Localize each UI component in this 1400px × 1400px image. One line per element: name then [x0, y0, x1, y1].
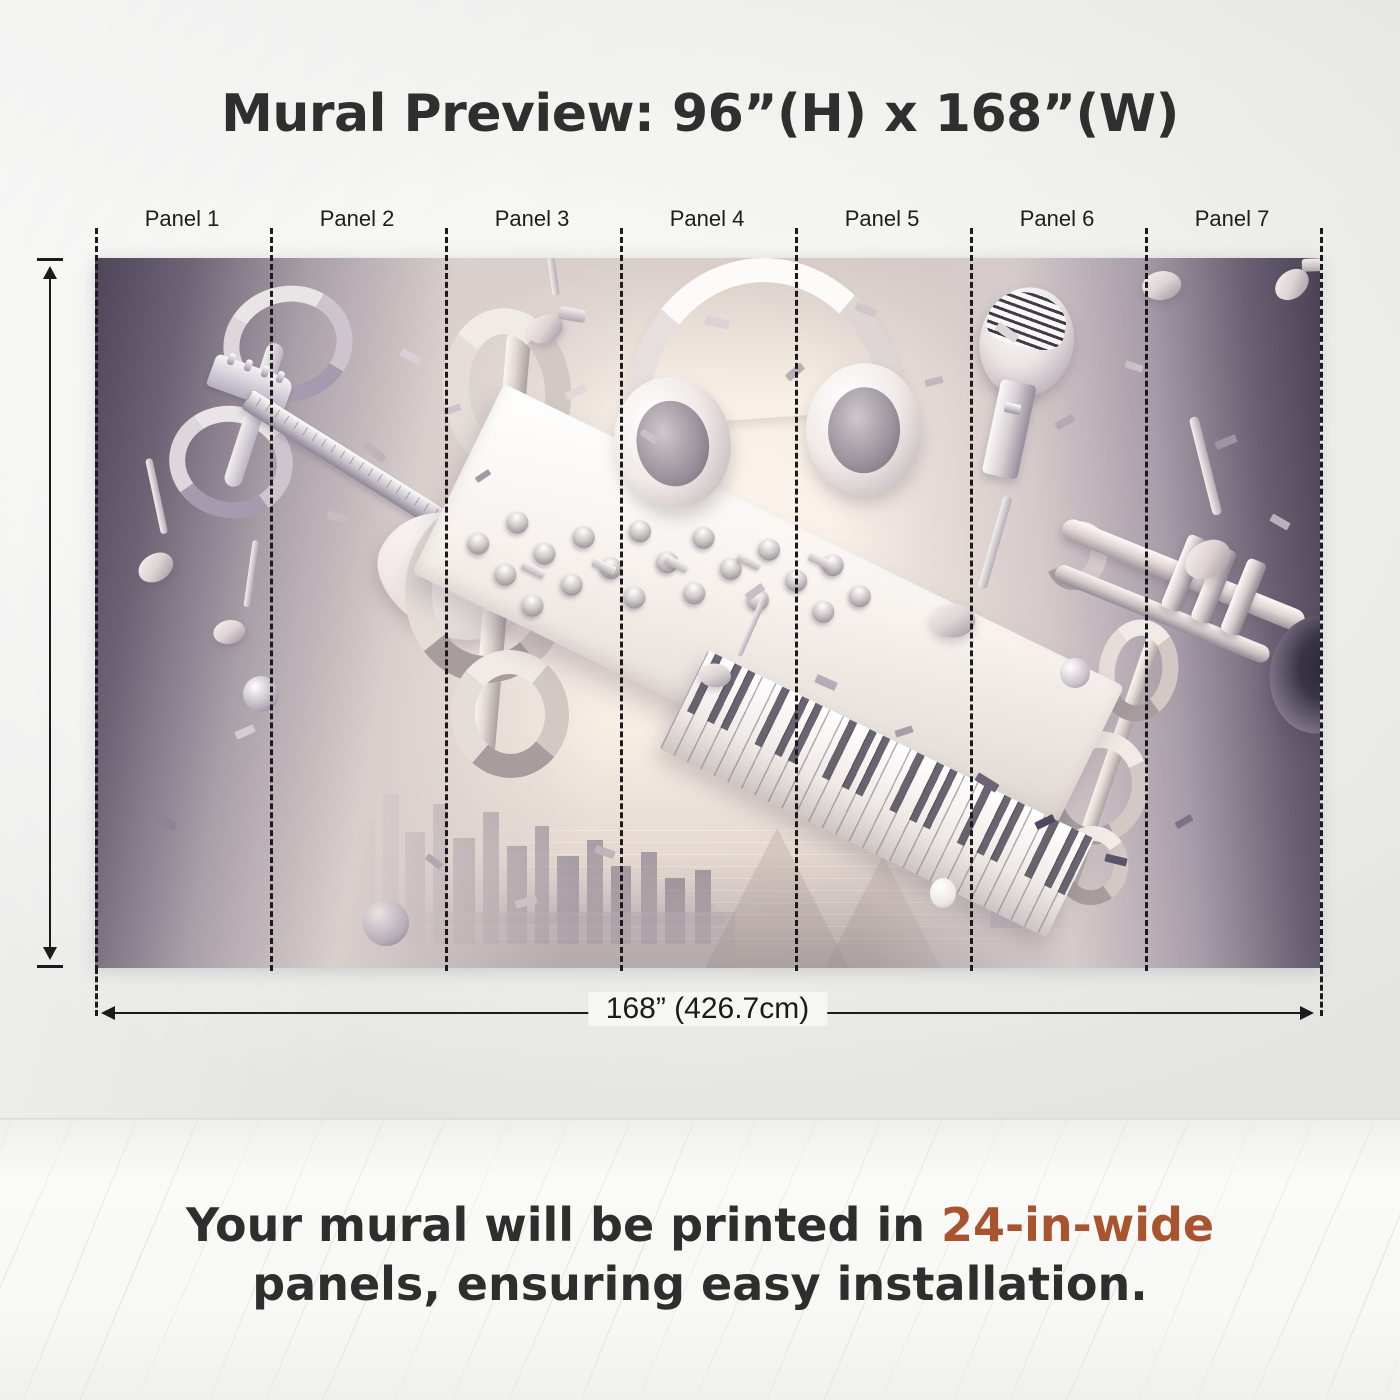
sphere-accent-2: [1060, 658, 1090, 688]
headphones-sculpture: [596, 258, 933, 529]
width-dimension-arrow: 168” (426.7cm): [95, 1011, 1320, 1015]
sphere-accent-4: [363, 900, 409, 946]
mural-preview-area: Panel 1 Panel 2 Panel 3 Panel 4 Panel 5 …: [95, 258, 1320, 968]
width-dimension-label: 168” (426.7cm): [588, 992, 827, 1026]
caption-accent-text: 24-in-wide: [941, 1198, 1214, 1252]
caption-line-2: panels, ensuring easy installation.: [0, 1255, 1400, 1314]
mural-artwork: [95, 258, 1320, 968]
dimension-guide-left: [95, 968, 98, 1016]
sphere-accent-3: [930, 878, 956, 908]
caption-line-1: Your mural will be printed in 24-in-wide: [0, 1196, 1400, 1255]
height-dimension-arrow: [48, 258, 52, 968]
sphere-accent-1: [243, 676, 279, 712]
print-info-caption: Your mural will be printed in 24-in-wide…: [0, 1196, 1400, 1314]
dimension-guide-right: [1320, 968, 1323, 1016]
caption-line-1-prefix: Your mural will be printed in: [186, 1198, 941, 1252]
page-title: Mural Preview: 96”(H) x 168”(W): [0, 84, 1400, 144]
